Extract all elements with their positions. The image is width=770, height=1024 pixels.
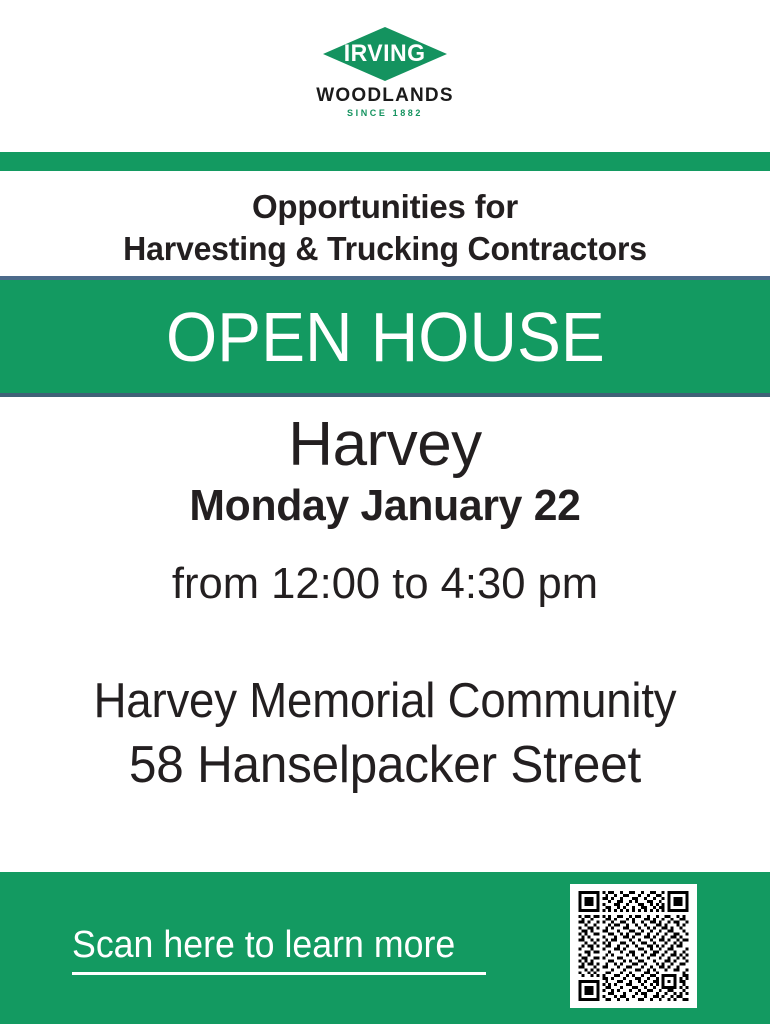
event-location-name: Harvey <box>0 412 770 479</box>
venue-name: Harvey Memorial Community <box>27 674 743 730</box>
qr-code-icon <box>577 891 690 1001</box>
headline-line-2: Harvesting & Trucking Contractors <box>12 228 759 270</box>
scan-cta-underline <box>72 972 486 975</box>
open-house-title: OPEN HOUSE <box>166 302 605 372</box>
brand-logo: IRVING WOODLANDS SINCE 1882 <box>0 26 770 130</box>
qr-code[interactable] <box>570 884 697 1008</box>
scan-cta-text[interactable]: Scan here to learn more <box>72 925 455 967</box>
poster-canvas: IRVING WOODLANDS SINCE 1882 Opportunitie… <box>0 0 770 1024</box>
venue-address: Harvey Memorial Community 58 Hanselpacke… <box>0 674 770 795</box>
event-details: Harvey Monday January 22 from 12:00 to 4… <box>0 412 770 609</box>
headline: Opportunities for Harvesting & Trucking … <box>0 186 770 270</box>
woodlands-wordmark: WOODLANDS <box>316 86 453 105</box>
event-time: from 12:00 to 4:30 pm <box>4 560 766 608</box>
irving-diamond-mark: IRVING <box>322 26 448 82</box>
since-tagline: SINCE 1882 <box>347 109 423 118</box>
irving-wordmark-text: IRVING <box>344 42 426 66</box>
open-house-banner: OPEN HOUSE <box>0 276 770 397</box>
top-green-divider <box>0 152 770 171</box>
headline-line-1: Opportunities for <box>252 188 518 225</box>
venue-street-address: 58 Hanselpacker Street <box>19 736 751 795</box>
event-date: Monday January 22 <box>12 481 759 530</box>
